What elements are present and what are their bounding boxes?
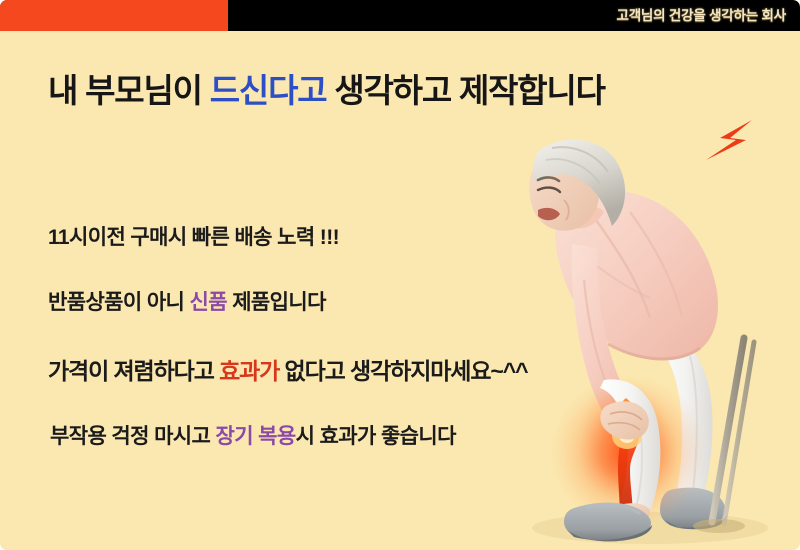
top-bar: 고객님의 건강을 생각하는 회사 — [0, 0, 800, 31]
far-leg-crease — [690, 356, 697, 492]
cane-tip-shadow — [693, 519, 745, 533]
closed-eye — [538, 188, 560, 192]
near-leg-pants — [600, 379, 660, 512]
knee-pain-glow — [550, 374, 706, 530]
benefit-line-delivery: 11시이전 구매시 빠른 배송 노력 !!! — [48, 221, 339, 251]
cardigan-fold-3 — [574, 248, 650, 298]
near-leg-crease — [636, 406, 642, 508]
knee-bone-highlight — [618, 398, 640, 520]
near-slipper-sole — [565, 525, 652, 541]
company-tagline: 고객님의 건강을 생각하는 회사 — [616, 0, 786, 31]
benefit-line-3-highlight: 효과가 — [219, 358, 279, 384]
benefit-line-new-product: 반품상품이 아니 신품 제품입니다 — [48, 286, 326, 316]
gripping-hand — [600, 401, 648, 439]
promo-banner: 고객님의 건강을 생각하는 회사 내 부모님이 드신다고 생각하고 제작합니다 … — [0, 0, 800, 550]
cardigan-torso — [555, 191, 718, 361]
benefit-line-4-part-1: 부작용 걱정 마시고 — [50, 425, 215, 448]
pain-lightning-bolt-icon — [706, 120, 752, 160]
page-title: 내 부모님이 드신다고 생각하고 제작합니다 — [48, 64, 605, 112]
near-slipper-strap — [586, 505, 640, 514]
face — [529, 152, 599, 230]
cardigan-hem — [608, 344, 700, 359]
hand-pain-glow — [580, 380, 668, 468]
walking-cane-second-shaft — [724, 342, 754, 524]
benefit-line-3-part-2: 없다고 생각하지마세요~^^ — [279, 358, 527, 384]
finger-line-2 — [608, 423, 640, 430]
benefit-line-price-efficacy: 가격이 져렴하다고 효과가 없다고 생각하지마세요~^^ — [48, 352, 527, 386]
benefit-line-long-term-use: 부작용 걱정 마시고 장기 복용시 효과가 좋습니다 — [50, 420, 456, 450]
benefit-line-1-part-1: 11시이전 구매시 빠른 배송 노력 !!! — [48, 226, 339, 249]
headline-highlight: 드신다고 — [210, 72, 327, 109]
sleeve-crease — [584, 280, 616, 406]
kneecap-core — [619, 429, 635, 443]
cardigan-fold-1 — [596, 220, 650, 318]
near-slipper — [564, 502, 651, 541]
benefit-line-2-highlight: 신품 — [190, 291, 227, 314]
open-mouth — [538, 208, 560, 220]
near-arm-sleeve — [572, 244, 640, 430]
far-leg-pants — [652, 328, 713, 498]
far-slipper-sole — [661, 515, 727, 529]
hair-strand-2 — [546, 159, 600, 184]
eyebrow — [538, 177, 559, 181]
floor-shadow — [532, 512, 768, 544]
sleeve-cuff — [612, 412, 644, 436]
benefit-line-4-highlight: 장기 복용 — [215, 425, 295, 448]
near-ankle-skin — [622, 503, 650, 523]
walking-cane-shaft — [712, 338, 744, 522]
benefit-line-4-part-2: 시 효과가 좋습니다 — [296, 425, 456, 448]
finger-line-1 — [610, 412, 642, 420]
benefit-line-3-part-1: 가격이 져렴하다고 — [48, 358, 219, 384]
elderly-woman-knee-pain-photo — [500, 80, 800, 550]
benefit-line-2-part-1: 반품상품이 아니 — [48, 291, 190, 314]
benefit-line-2-part-2: 제품입니다 — [227, 291, 326, 314]
cheek-line — [564, 200, 569, 220]
collar — [566, 204, 604, 228]
kneecap-highlight — [612, 423, 642, 449]
headline-part-2: 생각하고 제작합니다 — [326, 72, 604, 109]
hair-strand-1 — [552, 147, 608, 172]
headline-part-1: 내 부모님이 — [48, 72, 210, 109]
cardigan-fold-2 — [630, 212, 682, 316]
hair — [533, 140, 625, 226]
top-bar-accent-block — [0, 0, 228, 31]
far-slipper — [660, 488, 725, 529]
